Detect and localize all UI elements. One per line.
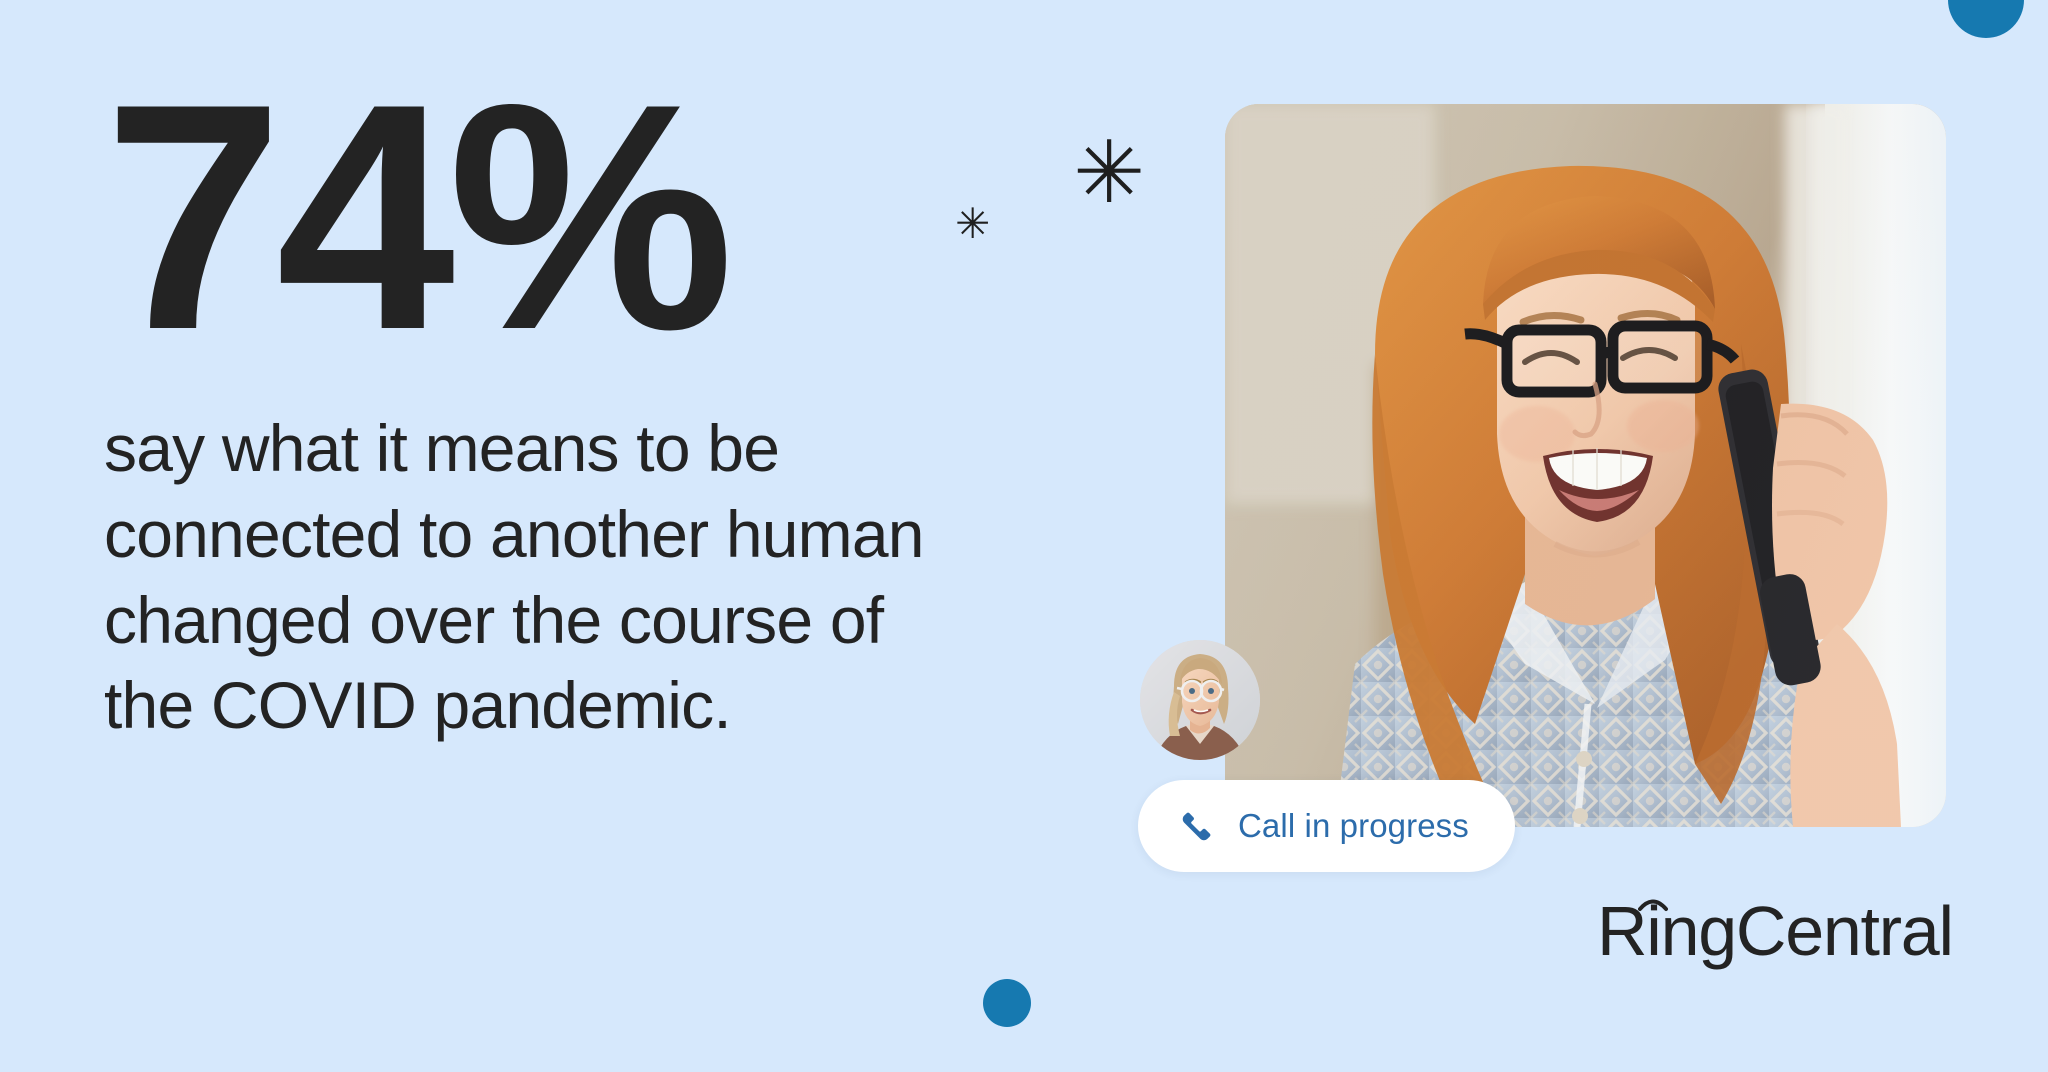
- marketing-banner: ✳ ✳ 74% say what it means to be connecte…: [0, 0, 2048, 1072]
- phone-handset-icon: [1180, 809, 1214, 843]
- ringcentral-arc-accent-icon: [1638, 896, 1668, 912]
- blue-dot-top-right-icon: [1948, 0, 2024, 38]
- stat-percentage: 74%: [104, 72, 1134, 350]
- call-in-progress-badge[interactable]: Call in progress: [1138, 780, 1515, 872]
- stat-description: say what it means to be connected to ano…: [104, 350, 1104, 749]
- ringcentral-logo: RingCentral: [1597, 900, 1953, 966]
- avatar: [1140, 640, 1260, 760]
- stat-text-column: 74% say what it means to be connected to…: [104, 72, 1134, 749]
- blue-dot-bottom-icon: [983, 979, 1031, 1027]
- call-status-label: Call in progress: [1238, 807, 1469, 845]
- hero-photo-card: [1225, 104, 1946, 827]
